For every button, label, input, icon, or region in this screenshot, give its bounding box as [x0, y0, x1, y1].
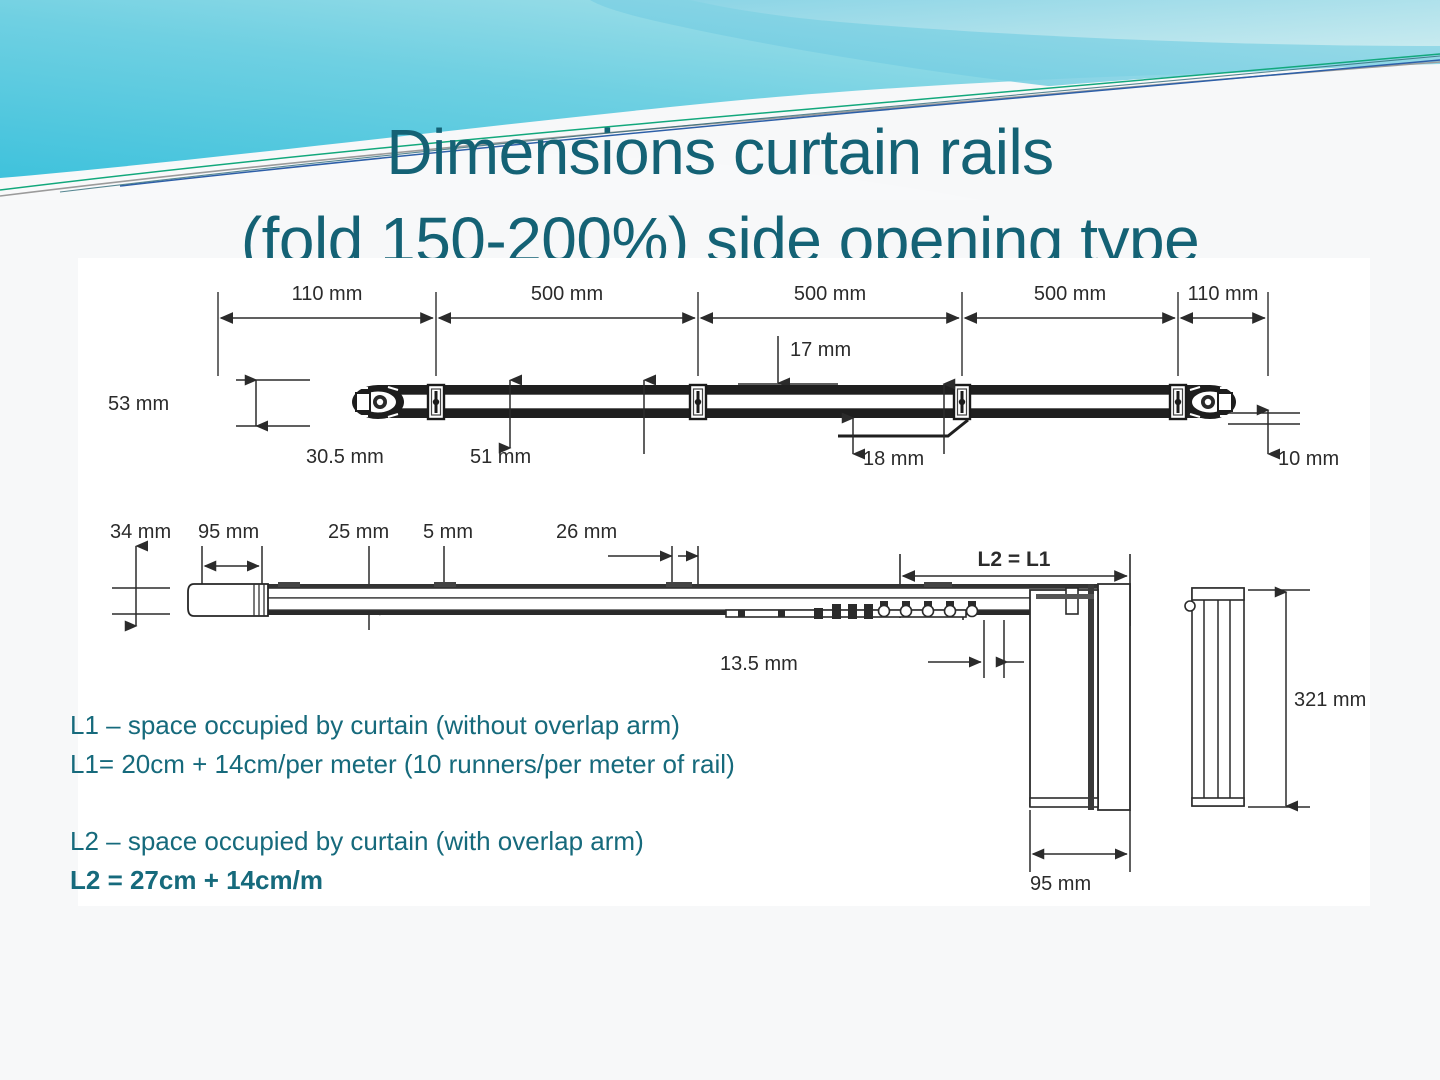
overlap-arm-top: [838, 420, 968, 436]
dim-top-500-c: 500 mm: [1034, 283, 1106, 305]
dim-53mm: 53 mm: [108, 393, 169, 415]
dim-top-500-a: 500 mm: [531, 283, 603, 305]
rail-carrier-2: [690, 385, 706, 419]
callout-51mm: 51 mm: [470, 446, 531, 468]
callout-13-5mm: 13.5 mm: [720, 653, 798, 675]
note-line-1: L1 – space occupied by curtain (without …: [70, 706, 970, 745]
dim-top-110-right: 110 mm: [1188, 283, 1259, 305]
dim-26mm: 26 mm: [556, 521, 617, 543]
note-spacer: [70, 784, 970, 822]
dim-top-110-left: 110 mm: [292, 283, 363, 305]
callout-30-5mm: 30.5 mm: [306, 446, 384, 468]
header-band-blue: [590, 0, 1440, 118]
note-line-2: L1= 20cm + 14cm/per meter (10 runners/pe…: [70, 745, 970, 784]
dim-25mm: 25 mm: [328, 521, 389, 543]
dim-5mm: 5 mm: [423, 521, 473, 543]
notes-block: L1 – space occupied by curtain (without …: [70, 706, 970, 900]
title-line-1: Dimensions curtain rails: [0, 108, 1440, 196]
note-line-3: L2 – space occupied by curtain (with ove…: [70, 822, 970, 861]
rail-carrier-4: [1170, 385, 1186, 419]
note-line-4: L2 = 27cm + 14cm/m: [70, 861, 970, 900]
callout-95mm-bottom: 95 mm: [1030, 873, 1091, 895]
header-band-light: [690, 0, 1440, 46]
dim-34mm: 34 mm: [110, 521, 171, 543]
callout-18mm: 18 mm: [863, 448, 924, 470]
motor-housing-side: [1185, 588, 1244, 806]
span-label-l2-eq-l1: L2 = L1: [978, 548, 1051, 571]
rail-endcap-right: [1184, 385, 1236, 419]
rail-carrier-1: [428, 385, 444, 419]
rail-endcap-left: [352, 385, 404, 419]
motor-housing-front: [1030, 584, 1130, 810]
diagram-top-view: 110 mm 500 mm 500 mm 500 mm 110 mm 17 mm…: [108, 283, 1339, 470]
dim-top-500-b: 500 mm: [794, 283, 866, 305]
dim-95mm-top: 95 mm: [198, 521, 259, 543]
callout-17mm: 17 mm: [790, 339, 851, 361]
rail-profile-top: [378, 385, 1210, 418]
rail-carrier-3: [954, 385, 970, 419]
callout-321mm: 321 mm: [1294, 689, 1366, 711]
callout-10mm: 10 mm: [1278, 448, 1339, 470]
